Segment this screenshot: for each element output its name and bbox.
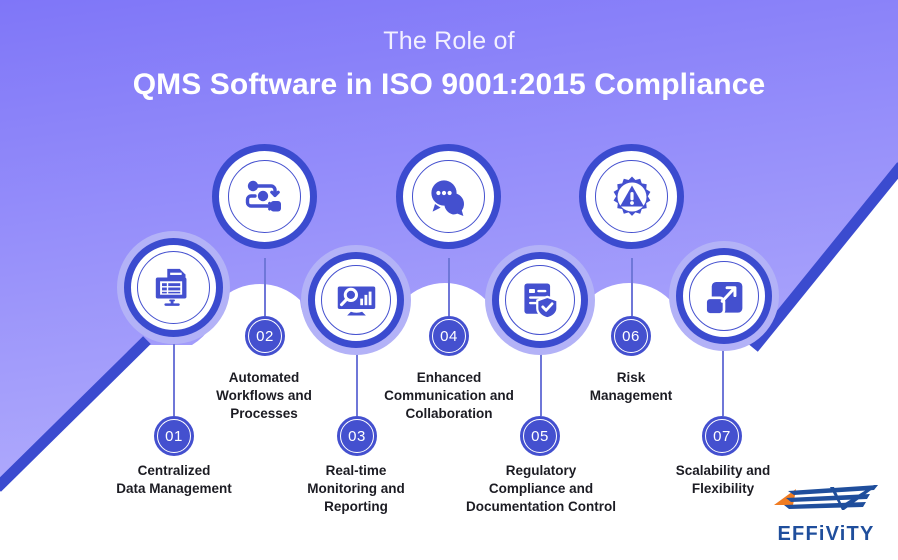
brand-logo: EFFiViTY xyxy=(770,483,882,546)
logo-wordmark: EFFiViTY xyxy=(770,523,882,546)
step-badge-04[interactable]: 04 xyxy=(429,316,469,356)
step-icon-bubble-02[interactable] xyxy=(212,144,317,249)
monitor-analytics-search-icon xyxy=(334,278,379,323)
stem-02 xyxy=(264,258,266,316)
step-caption-04: Enhanced Communication and Collaboration xyxy=(357,369,541,422)
page-title: QMS Software in ISO 9001:2015 Compliance xyxy=(0,68,898,103)
gear-warning-icon xyxy=(608,173,656,221)
stem-06 xyxy=(631,258,633,316)
step-number-02: 02 xyxy=(248,319,282,353)
stem-07 xyxy=(722,348,724,416)
monitor-document-icon xyxy=(151,265,197,311)
step-caption-06: Risk Management xyxy=(551,369,711,405)
document-shield-check-icon xyxy=(518,278,562,322)
step-number-07: 07 xyxy=(705,419,739,453)
step-icon-bubble-01[interactable] xyxy=(124,238,223,337)
step-badge-06[interactable]: 06 xyxy=(611,316,651,356)
infographic-canvas: The Role of QMS Software in ISO 9001:201… xyxy=(0,0,898,560)
step-icon-bubble-06[interactable] xyxy=(579,144,684,249)
step-caption-02: Automated Workflows and Processes xyxy=(174,369,354,422)
step-badge-05[interactable]: 05 xyxy=(520,416,560,456)
step-number-06: 06 xyxy=(614,319,648,353)
step-number-03: 03 xyxy=(340,419,374,453)
chat-bubbles-icon xyxy=(425,173,473,221)
step-icon-bubble-03[interactable] xyxy=(308,252,404,348)
step-icon-bubble-04[interactable] xyxy=(396,144,501,249)
step-number-04: 04 xyxy=(432,319,466,353)
title-eyebrow: The Role of xyxy=(0,28,898,56)
step-number-01: 01 xyxy=(157,419,191,453)
expand-arrow-squares-icon xyxy=(703,275,745,317)
step-caption-03: Real-time Monitoring and Reporting xyxy=(271,462,441,515)
workflow-nodes-icon xyxy=(241,173,289,221)
step-badge-07[interactable]: 07 xyxy=(702,416,742,456)
step-badge-02[interactable]: 02 xyxy=(245,316,285,356)
step-icon-bubble-05[interactable] xyxy=(492,252,588,348)
step-caption-01: Centralized Data Management xyxy=(79,462,269,498)
ev-logo-mark-icon xyxy=(770,483,882,517)
step-caption-05: Regulatory Compliance and Documentation … xyxy=(443,462,639,515)
step-number-05: 05 xyxy=(523,419,557,453)
stem-04 xyxy=(448,258,450,316)
step-icon-bubble-07[interactable] xyxy=(676,248,772,344)
title-block: The Role of QMS Software in ISO 9001:201… xyxy=(0,28,898,102)
